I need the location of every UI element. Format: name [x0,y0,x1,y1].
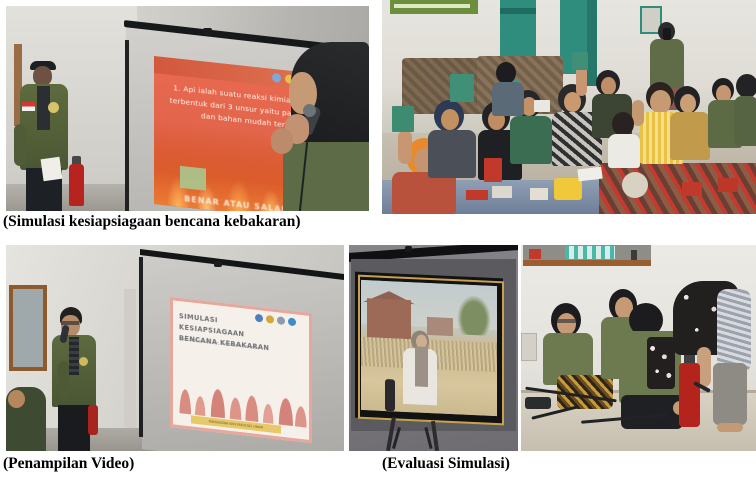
video-content [361,280,497,416]
handheld-paper [41,157,63,181]
banana-tree [457,294,491,336]
child-face [650,90,671,114]
photo-fire-extinguisher-practice [521,245,756,451]
green-cabinet-shelf [500,8,536,14]
institution-logo-3-icon [277,316,285,325]
participant-glasses-icon [557,319,576,323]
person-raised-arm [576,66,587,96]
fire-extinguisher [69,164,84,206]
university-emblem-icon [48,102,59,113]
person-green-jacket [734,96,756,146]
answer-card-green [450,74,474,102]
person-body [392,172,456,214]
presenter-trousers [58,405,90,451]
wall-window [9,285,47,371]
person-face [601,77,616,95]
person-body [492,82,524,116]
indonesian-flag-patch-icon [22,102,35,111]
wall-power-outlet [521,333,537,361]
answer-card-red [484,158,502,182]
green-door-frame [587,0,597,86]
answer-card-green [392,106,414,132]
red-mat-square-2 [718,178,738,192]
wall-column [124,289,136,429]
person-face [441,109,459,130]
microphone-head-icon [303,104,316,117]
participant-floral-top-inner [647,337,675,389]
presenter-patterned-shirt [69,337,79,375]
photo-video-screening-presentation: SIMULASI KESIAPSIAGAAN BENCANA KEBAKARAN… [6,245,344,451]
projector-screen-mount [405,246,412,252]
photo-5-content [521,245,756,451]
projector-screen-mount [214,261,222,267]
floor-power-strip [525,397,551,409]
caption-simulasi-kesiapsiagaan: (Simulasi kesiapsiagaan bencana kebakara… [3,213,301,231]
foreground-post [385,379,395,411]
bending-woman-foot [717,423,743,432]
ball [622,172,648,198]
red-mat-square-1 [682,182,702,196]
speaker-green-jacket [283,142,369,211]
institution-logo-1-icon [272,73,281,83]
person-face [680,94,696,113]
photo-projected-video-frame [349,245,518,451]
student-arm [14,124,26,166]
answer-card-green [572,52,588,70]
tissue-box-1 [492,186,512,198]
person-body [510,116,552,164]
presenter-arm [58,361,69,399]
title-slide: SIMULASI KESIAPSIAGAAN BENCANA KEBAKARAN… [170,297,312,443]
background-building [427,317,453,336]
fire-extinguisher [679,363,700,427]
red-box [466,190,488,200]
brick-house [367,298,411,342]
photo-fire-preparedness-quiz-presentation: 1. Api ialah suatu reaksi kimia cepat ya… [6,6,369,211]
seated-participant-head [8,390,25,408]
bending-woman-striped-shawl [717,289,751,373]
institution-logo-4-icon [288,317,296,326]
photo-3-content: SIMULASI KESIAPSIAGAAN BENCANA KEBAKARAN… [6,245,344,451]
tissue-box-2 [530,188,548,200]
photo-4-content [349,245,518,451]
person-body [428,130,476,178]
bending-woman-trousers [713,363,747,425]
photo-audience-participants-raising-cards [382,0,756,214]
projector-screen-edge [125,40,129,211]
participant-face-left [557,313,576,335]
caption-penampilan-video: (Penampilan Video) [3,455,134,473]
child-body [608,134,640,168]
student-head [33,66,52,86]
photo-2-content [382,0,756,214]
answer-card-green-overlay [180,166,206,191]
fire-extinguisher [88,405,98,435]
speaker-hand-right [271,128,293,154]
yellow-cloth [554,178,582,200]
window-glass-louvres [565,246,615,259]
video-presenter-scarf [415,346,428,387]
university-emblem-icon [79,357,88,366]
figure-collage: 1. Api ialah suatu reaksi kimia cepat ya… [0,0,756,486]
child-head [612,112,634,136]
slide-flame-graphic [173,335,309,427]
window-sill [523,260,651,265]
photo-1-content: 1. Api ialah suatu reaksi kimia cepat ya… [6,6,369,211]
person-head [736,74,756,98]
smartphone-icon [663,28,671,40]
person-head [496,62,516,84]
window-shelf-item-dark [631,250,637,260]
person-raised-arm [398,130,412,164]
answer-card-white [534,100,550,112]
projector-screen-edge [139,257,143,437]
wall-banner [390,0,478,14]
projector-screen-mount [203,28,212,35]
person-body [670,112,710,160]
caption-evaluasi-simulasi: (Evaluasi Simulasi) [382,455,510,473]
window-shelf-item-red [529,249,541,259]
